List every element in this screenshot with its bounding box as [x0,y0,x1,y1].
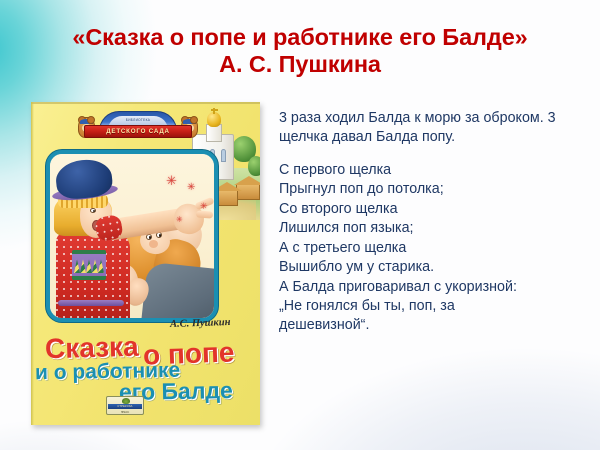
balda-belt [58,300,124,306]
cover-author: А.С. Пушкин [170,317,231,330]
poem-line: А Балда приговаривал с укоризной: [279,278,591,297]
tree-icon [248,156,260,176]
series-ribbon-label: ДЕТСКОГО САДА [84,125,192,138]
balda-finger [196,210,213,218]
spark-icon: ✳ [187,183,195,193]
cross-icon [213,108,215,114]
leaf-icon [122,398,130,404]
bear-cap [80,119,93,124]
poem-line: А с третьего щелка [279,239,591,258]
title-line-1: «Сказка о попе и работнике его Балде» [72,24,527,50]
golden-dome-icon [207,112,221,127]
cover-title-block: А.С. Пушкин Сказка о попе и о работнике … [31,328,260,400]
balda-eye [90,208,96,213]
spark-icon: ✳ [200,202,208,211]
poem-block: С первого щелка Прыгнул поп до потолка; … [279,161,591,336]
poem-line: Прыгнул поп до потолка; [279,180,591,199]
series-banner: БИБЛИОТЕКА ДЕТСКОГО САДА [79,111,197,143]
pop-eye [146,234,152,240]
slide-canvas: «Сказка о попе и работнике его Балде» А.… [0,0,600,450]
poem-line: Лишился поп языка; [279,219,591,238]
poem-line: „Не гонялся бы ты, поп, за [279,297,591,316]
page-title: «Сказка о попе и работнике его Балде» А.… [0,24,600,79]
church-window [221,149,226,162]
body-text-column: 3 раза ходил Балда к морю за оброком. 3 … [279,109,591,336]
pop-body [141,262,218,322]
publisher-suffix: ПРЕСС [108,410,142,415]
poem-line: С первого щелка [279,161,591,180]
cover-illustration: ✳ ✳ ✳ ✳ [50,154,214,318]
poem-line: Со второго щелка [279,200,591,219]
publisher-name: СТРЕКОЗА [108,404,142,409]
title-line-2: А. С. Пушкина [0,51,600,78]
poem-line: дешевизной“. [279,316,591,335]
book-top-edge [31,102,260,104]
spark-icon: ✳ [166,174,177,187]
cover-illustration-frame: ✳ ✳ ✳ ✳ [46,150,218,322]
poem-line: Вышибло ум у старика. [279,258,591,277]
publisher-logo: СТРЕКОЗА ПРЕСС [106,396,144,415]
spark-icon: ✳ [176,216,183,224]
bear-cap [183,119,196,124]
book-cover-image: БИБЛИОТЕКА ДЕТСКОГО САДА [31,102,260,425]
intro-paragraph: 3 раза ходил Балда к морю за оброком. 3 … [279,109,591,148]
pop-nose [149,240,158,248]
